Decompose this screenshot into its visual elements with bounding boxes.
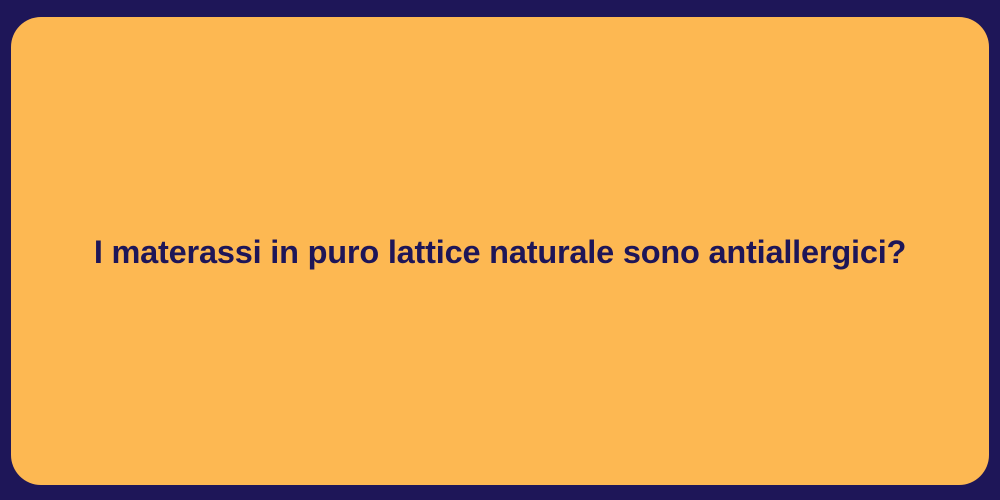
faq-banner-frame: I materassi in puro lattice naturale son… [0, 0, 1000, 500]
faq-question-card: I materassi in puro lattice naturale son… [11, 17, 989, 485]
faq-question-heading: I materassi in puro lattice naturale son… [54, 232, 946, 273]
